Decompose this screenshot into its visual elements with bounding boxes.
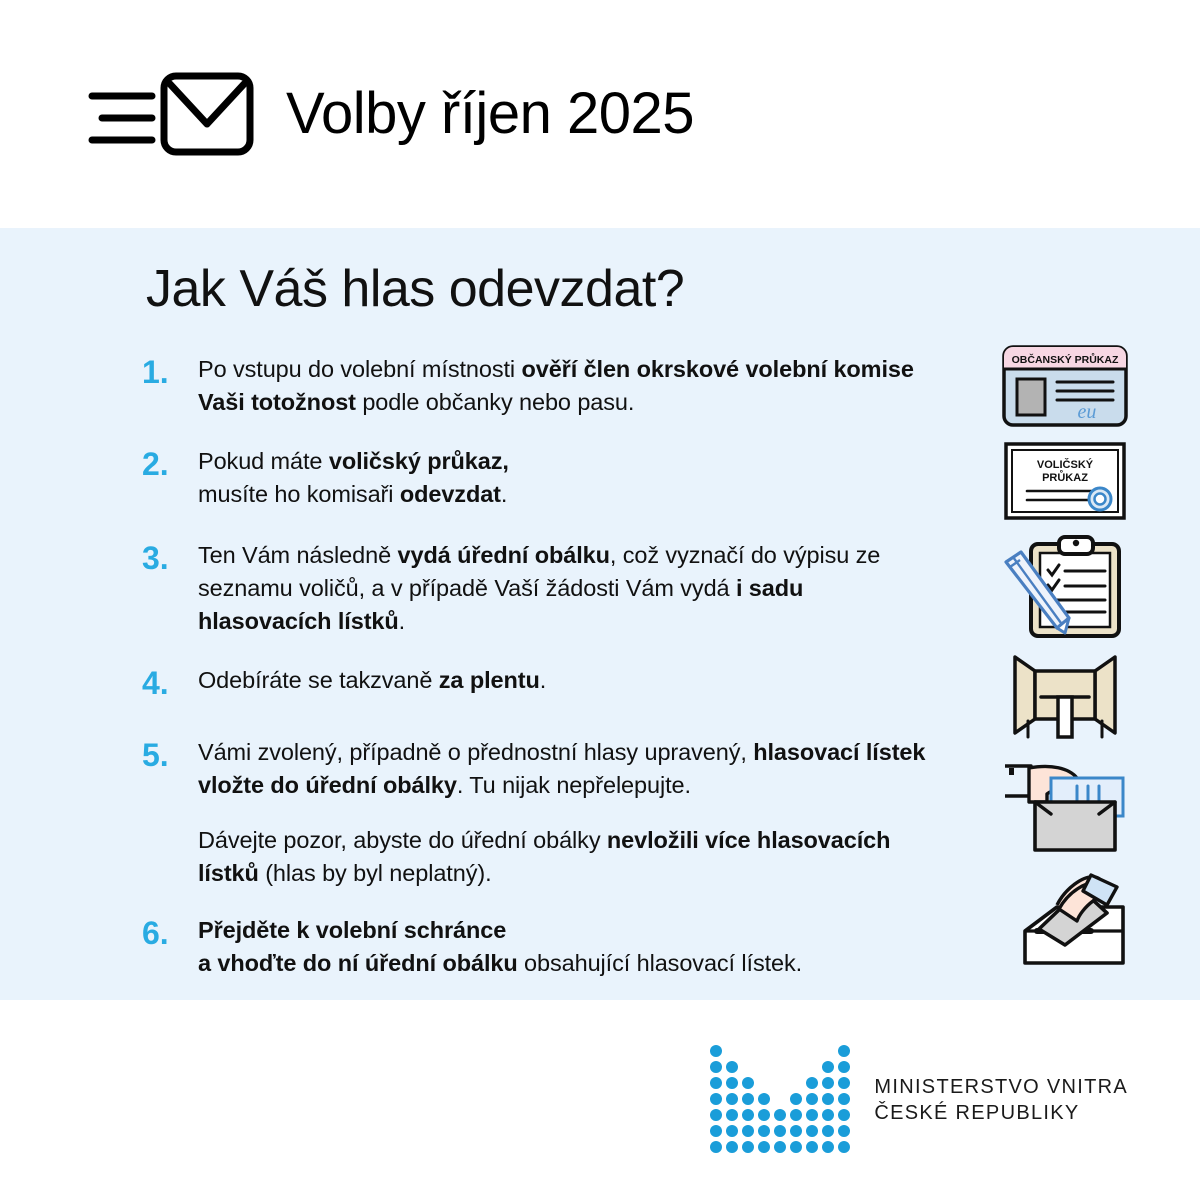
step-paragraph: Po vstupu do volební místnosti ověří čle… [198, 353, 942, 419]
logo-dot [838, 1077, 850, 1089]
page-title: Volby říjen 2025 [286, 85, 694, 143]
logo-dot-empty [758, 1077, 770, 1089]
logo-dot [726, 1141, 738, 1153]
infographic-page: Volby říjen 2025 Jak Váš hlas odevzdat? … [0, 0, 1200, 1200]
logo-dot [726, 1125, 738, 1137]
logo-dot-empty [758, 1061, 770, 1073]
id-card-eu-mark: eu [1078, 401, 1097, 423]
step-paragraph: Dávejte pozor, abyste do úřední obálky n… [198, 824, 942, 890]
logo-dot [742, 1093, 754, 1105]
id-card-icon: OBČANSKÝ PRŮKAZ eu [1001, 343, 1129, 429]
step-item-5: 5. Vámi zvolený, případně o přednostní h… [142, 736, 942, 890]
step-text-3: Ten Vám následně vydá úřední obálku, což… [198, 539, 942, 638]
icon-slot-id-card: OBČANSKÝ PRŮKAZ eu [985, 338, 1145, 434]
logo-dot-empty [774, 1077, 786, 1089]
logo-dot [790, 1141, 802, 1153]
icon-slot-booth [985, 646, 1145, 746]
logo-dot [806, 1109, 818, 1121]
step-paragraph: Odebíráte se takzvaně za plentu. [198, 664, 942, 697]
logo-dot-empty [774, 1045, 786, 1057]
voting-booth-icon [995, 649, 1135, 743]
step-number-5: 5. [142, 736, 198, 772]
main-heading: Jak Váš hlas odevzdat? [146, 262, 684, 317]
logo-dot [790, 1125, 802, 1137]
logo-dot-empty [774, 1093, 786, 1105]
icon-slot-ballot-box [985, 862, 1145, 972]
step-paragraph: Vámi zvolený, případně o přednostní hlas… [198, 736, 942, 802]
logo-dot [790, 1093, 802, 1105]
logo-dot [742, 1125, 754, 1137]
step-text-6: Přejděte k volební schráncea vhoďte do n… [198, 914, 942, 980]
ministry-dot-matrix-logo-icon [710, 1045, 852, 1155]
logo-dot [806, 1141, 818, 1153]
step-text-1: Po vstupu do volební místnosti ověří čle… [198, 353, 942, 419]
step-paragraph: Ten Vám následně vydá úřední obálku, což… [198, 539, 942, 638]
emphasis-text: vydá úřední obálku [398, 542, 610, 568]
clipboard-with-pen-icon [995, 534, 1135, 640]
logo-dot [742, 1109, 754, 1121]
ballot-box-icon [995, 865, 1135, 969]
logo-dot [726, 1109, 738, 1121]
ministry-name: MINISTERSTVO VNITRA ČESKÉ REPUBLIKY [874, 1074, 1128, 1126]
logo-dot [726, 1061, 738, 1073]
logo-dot-empty [742, 1061, 754, 1073]
logo-dot [822, 1141, 834, 1153]
logo-dot [758, 1109, 770, 1121]
logo-dot [822, 1077, 834, 1089]
step-number-4: 4. [142, 664, 198, 700]
footer: MINISTERSTVO VNITRA ČESKÉ REPUBLIKY [0, 1000, 1200, 1200]
voter-certificate-icon: VOLIČSKÝ PRŮKAZ [1003, 441, 1127, 521]
logo-dot-empty [790, 1061, 802, 1073]
step-text-4: Odebíráte se takzvaně za plentu. [198, 664, 942, 697]
logo-dot-empty [758, 1045, 770, 1057]
logo-dot [822, 1061, 834, 1073]
ministry-logo: MINISTERSTVO VNITRA ČESKÉ REPUBLIKY [710, 1045, 1128, 1155]
step-number-6: 6. [142, 914, 198, 950]
logo-dot [806, 1093, 818, 1105]
step-text-5: Vámi zvolený, případně o přednostní hlas… [198, 736, 942, 890]
logo-dot [742, 1141, 754, 1153]
logo-dot [774, 1125, 786, 1137]
step-item-4: 4. Odebíráte se takzvaně za plentu. [142, 664, 942, 700]
step-number-3: 3. [142, 539, 198, 575]
step-item-3: 3. Ten Vám následně vydá úřední obálku, … [142, 539, 942, 638]
logo-dot [710, 1093, 722, 1105]
logo-dot [838, 1093, 850, 1105]
content-band: Jak Váš hlas odevzdat? 1. Po vstupu do v… [0, 228, 1200, 1000]
icon-column: OBČANSKÝ PRŮKAZ eu VOLIČSKÝ PRŮKAZ [985, 338, 1155, 972]
logo-dot [790, 1109, 802, 1121]
step-text-2: Pokud máte voličský průkaz,musíte ho kom… [198, 445, 942, 511]
emphasis-text: a vhoďte do ní úřední obálku [198, 950, 518, 976]
step-number-2: 2. [142, 445, 198, 481]
icon-slot-hand-ballot [985, 754, 1145, 858]
step-paragraph: Přejděte k volební schráncea vhoďte do n… [198, 914, 942, 980]
logo-dot [726, 1077, 738, 1089]
logo-dot [758, 1141, 770, 1153]
ministry-line-1: MINISTERSTVO VNITRA [874, 1074, 1128, 1100]
logo-dot-empty [806, 1061, 818, 1073]
envelope-with-speed-lines-icon [86, 68, 256, 160]
logo-dot [726, 1093, 738, 1105]
logo-dot [806, 1077, 818, 1089]
step-number-1: 1. [142, 353, 198, 389]
logo-dot [838, 1045, 850, 1057]
logo-dot [838, 1141, 850, 1153]
step-paragraph: Pokud máte voličský průkaz,musíte ho kom… [198, 445, 942, 511]
step-item-2: 2. Pokud máte voličský průkaz,musíte ho … [142, 445, 942, 511]
logo-dot [838, 1061, 850, 1073]
emphasis-text: voličský průkaz, [329, 448, 509, 474]
logo-dot [710, 1109, 722, 1121]
ministry-line-2: ČESKÉ REPUBLIKY [874, 1100, 1128, 1126]
logo-dot-empty [742, 1045, 754, 1057]
logo-dot-empty [774, 1061, 786, 1073]
certificate-line-1: VOLIČSKÝ [1037, 458, 1094, 471]
logo-dot-empty [822, 1045, 834, 1057]
logo-dot-empty [790, 1045, 802, 1057]
logo-dot [838, 1125, 850, 1137]
logo-dot [822, 1109, 834, 1121]
icon-slot-certificate: VOLIČSKÝ PRŮKAZ [985, 438, 1145, 524]
logo-dot [710, 1077, 722, 1089]
logo-dot-empty [806, 1045, 818, 1057]
step-item-1: 1. Po vstupu do volební místnosti ověří … [142, 353, 942, 419]
icon-slot-clipboard [985, 532, 1145, 642]
logo-dot-empty [726, 1045, 738, 1057]
logo-dot [806, 1125, 818, 1137]
hand-inserting-ballot-icon [995, 756, 1135, 856]
header: Volby říjen 2025 [0, 0, 1200, 228]
step-item-6: 6. Přejděte k volební schráncea vhoďte d… [142, 914, 942, 980]
logo-dot [838, 1109, 850, 1121]
logo-dot [822, 1093, 834, 1105]
emphasis-text: odevzdat [400, 481, 501, 507]
logo-dot [758, 1125, 770, 1137]
logo-dot-empty [790, 1077, 802, 1089]
logo-dot [710, 1045, 722, 1057]
logo-dot [822, 1125, 834, 1137]
id-card-header-label: OBČANSKÝ PRŮKAZ [1012, 352, 1119, 366]
logo-dot [758, 1093, 770, 1105]
step-list: 1. Po vstupu do volební místnosti ověří … [142, 353, 942, 980]
emphasis-text: za plentu [439, 667, 540, 693]
logo-dot [774, 1109, 786, 1121]
logo-dot [710, 1141, 722, 1153]
logo-dot [742, 1077, 754, 1089]
logo-dot [774, 1141, 786, 1153]
emphasis-text: Přejděte k volební schránce [198, 917, 506, 943]
certificate-line-2: PRŮKAZ [1042, 470, 1088, 484]
logo-dot [710, 1061, 722, 1073]
logo-dot [710, 1125, 722, 1137]
